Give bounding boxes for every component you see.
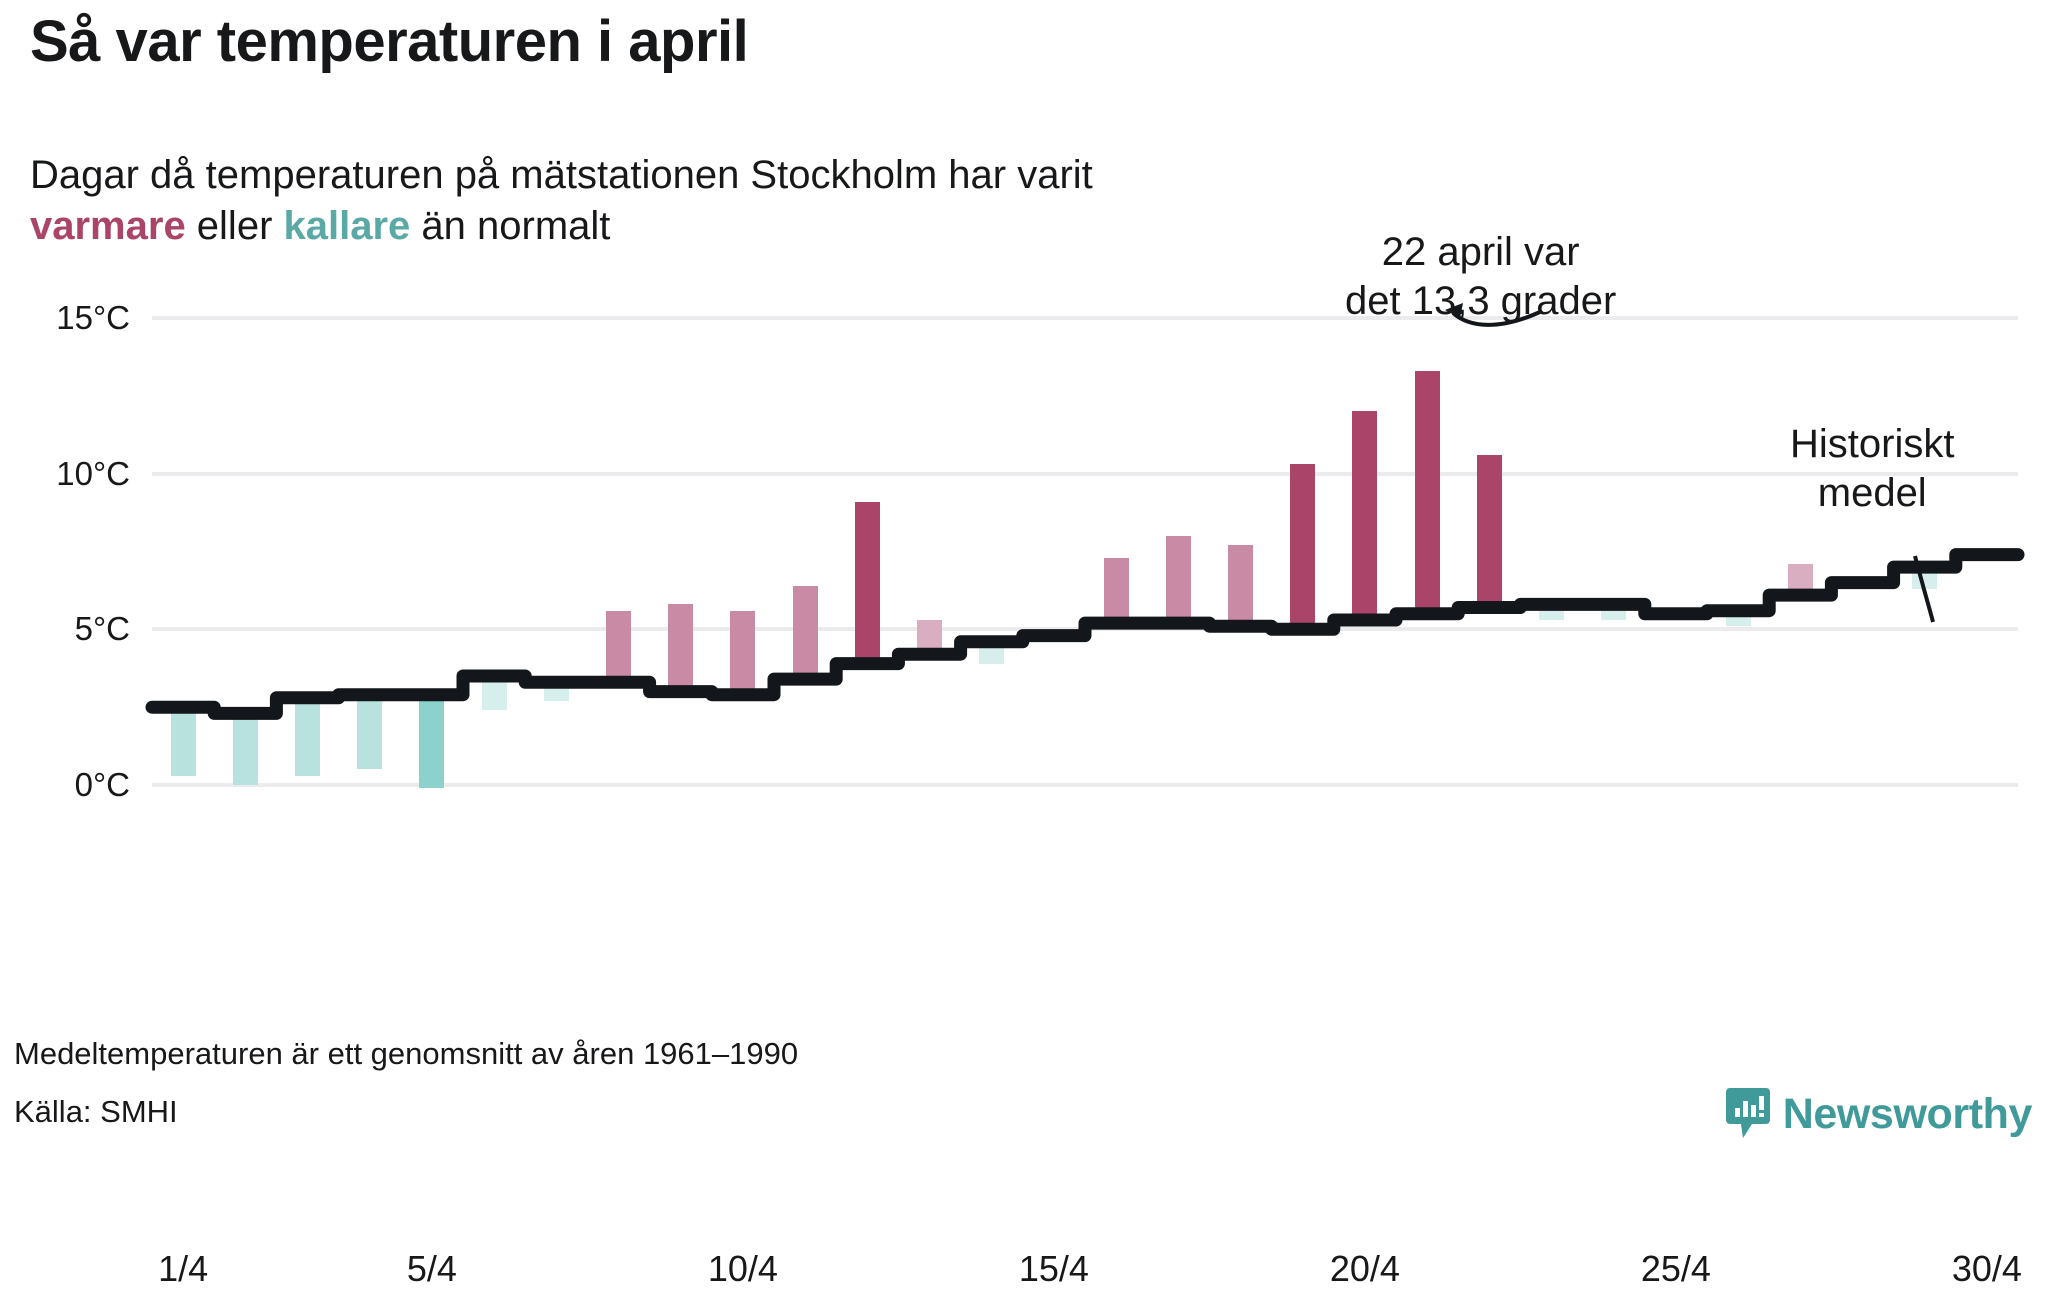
x-axis-label-10-4: 10/4: [708, 1248, 778, 1290]
mean-annotation-line-2: medel: [1790, 469, 1954, 518]
x-axis-label-30-4: 30/4: [1952, 1248, 2022, 1290]
x-axis-label-25-4: 25/4: [1641, 1248, 1711, 1290]
gridline-5: [152, 627, 2018, 631]
bar-day-23[interactable]: [1539, 604, 1564, 620]
bar-day-12[interactable]: [855, 502, 880, 664]
mean-line-path: [152, 555, 2018, 714]
bar-day-9[interactable]: [668, 604, 693, 691]
peak-annotation-line-2: det 13,3 grader: [1345, 277, 1616, 326]
mean-annotation-line-1: Historiskt: [1790, 420, 1954, 469]
legend-warm-word: varmare: [30, 204, 186, 248]
bar-day-16[interactable]: [1104, 558, 1129, 623]
bar-day-1[interactable]: [171, 707, 196, 775]
subtitle-line-1-text: Dagar då temperaturen på mätstationen St…: [30, 153, 1093, 197]
bar-day-11[interactable]: [793, 586, 818, 679]
footnote-method: Medeltemperaturen är ett genomsnitt av å…: [14, 1036, 798, 1072]
bar-day-2[interactable]: [233, 713, 258, 785]
bar-day-21[interactable]: [1415, 371, 1440, 614]
y-axis-label-10: 10°C: [0, 455, 130, 493]
bar-day-8[interactable]: [606, 611, 631, 683]
subtitle-line-1: Dagar då temperaturen på mätstationen St…: [30, 150, 1093, 201]
x-axis-label-1-4: 1/4: [158, 1248, 208, 1290]
chart-plot-area: 0°C5°C10°C15°C 1/45/410/415/420/425/430/…: [0, 300, 2048, 940]
gridline-15: [152, 316, 2018, 320]
x-axis-label-5-4: 5/4: [407, 1248, 457, 1290]
bar-day-27[interactable]: [1788, 564, 1813, 595]
bar-day-24[interactable]: [1601, 604, 1626, 620]
bar-day-28[interactable]: [1850, 580, 1875, 583]
mean-annotation: Historiskt medel: [1790, 420, 1954, 518]
newsworthy-logo[interactable]: Newsworthy: [1726, 1088, 2032, 1140]
x-axis-label-20-4: 20/4: [1330, 1248, 1400, 1290]
subtitle-connector: eller: [186, 204, 284, 248]
bar-day-17[interactable]: [1166, 536, 1191, 623]
x-axis-label-15-4: 15/4: [1019, 1248, 1089, 1290]
footnote-source: Källa: SMHI: [14, 1094, 178, 1130]
subtitle-line-2: varmare eller kallare än normalt: [30, 201, 1093, 252]
brand-name: Newsworthy: [1783, 1090, 2032, 1139]
bar-day-22[interactable]: [1477, 455, 1502, 608]
bar-day-15[interactable]: [1041, 636, 1066, 638]
bar-day-7[interactable]: [544, 682, 569, 701]
page-subtitle: Dagar då temperaturen på mätstationen St…: [30, 150, 1093, 252]
bar-day-4[interactable]: [357, 695, 382, 770]
peak-annotation: 22 april var det 13,3 grader: [1345, 228, 1616, 326]
bar-day-20[interactable]: [1352, 411, 1377, 620]
bar-day-13[interactable]: [917, 620, 942, 654]
page-title: Så var temperaturen i april: [30, 8, 748, 75]
bar-day-26[interactable]: [1726, 611, 1751, 627]
bar-day-18[interactable]: [1228, 545, 1253, 626]
bar-day-14[interactable]: [979, 642, 1004, 664]
bar-day-6[interactable]: [482, 676, 507, 710]
bar-day-5[interactable]: [419, 695, 444, 788]
bar-day-25[interactable]: [1663, 614, 1688, 616]
subtitle-tail: än normalt: [410, 204, 610, 248]
bar-day-30[interactable]: [1974, 555, 1999, 558]
y-axis-label-0: 0°C: [0, 766, 130, 804]
legend-cold-word: kallare: [284, 204, 411, 248]
bar-chart-bubble-icon: [1726, 1088, 1770, 1140]
y-axis-label-15: 15°C: [0, 299, 130, 337]
bar-day-29[interactable]: [1912, 567, 1937, 589]
peak-annotation-line-1: 22 april var: [1345, 228, 1616, 277]
bar-day-19[interactable]: [1290, 464, 1315, 629]
y-axis-label-5: 5°C: [0, 610, 130, 648]
bar-day-3[interactable]: [295, 698, 320, 776]
bar-day-10[interactable]: [730, 611, 755, 695]
gridline-10: [152, 472, 2018, 476]
